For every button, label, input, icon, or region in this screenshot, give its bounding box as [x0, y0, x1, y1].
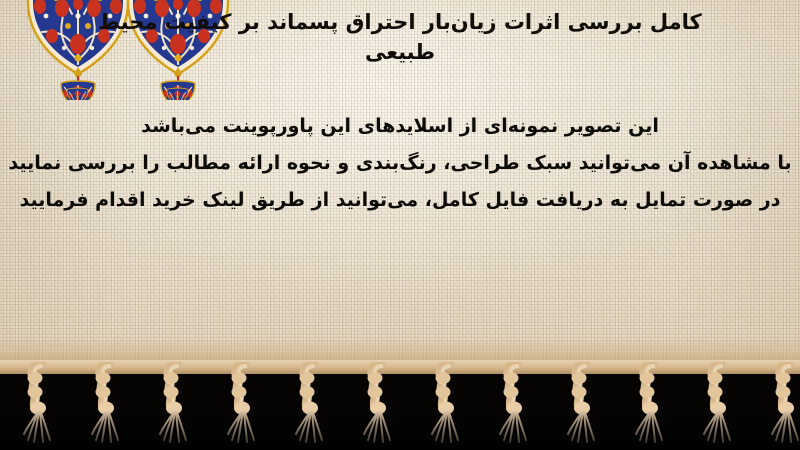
- fringe-tassel: [86, 362, 132, 450]
- fringe-tassel: [290, 362, 336, 450]
- slide-body-text: این تصویر نمونه‌ای از اسلایدهای این پاور…: [0, 108, 800, 220]
- fringe-tassel: [698, 362, 744, 450]
- fringe-tassel: [222, 362, 268, 450]
- fringe-tassel: [154, 362, 200, 450]
- fringe-tassel: [18, 362, 64, 450]
- slide-title-line-2: طبیعی: [0, 38, 800, 68]
- fringe-tassel: [358, 362, 404, 450]
- slide-body-line-3: در صورت تمایل به دریافت فایل کامل، می‌تو…: [0, 182, 800, 219]
- slide-body-line-2: با مشاهده آن می‌توانید سبک طراحی، رنگ‌بن…: [0, 145, 800, 182]
- slide-body-line-1: این تصویر نمونه‌ای از اسلایدهای این پاور…: [0, 108, 800, 145]
- fringe-tassel: [426, 362, 472, 450]
- slide-text-layer: کامل بررسی اثرات زیان‌بار احتراق پسماند …: [0, 0, 800, 368]
- fringe-tassel: [630, 362, 676, 450]
- presentation-slide: کامل بررسی اثرات زیان‌بار احتراق پسماند …: [0, 0, 800, 450]
- slide-title-line-1: کامل بررسی اثرات زیان‌بار احتراق پسماند …: [0, 8, 800, 38]
- fringe-tassel: [766, 362, 800, 450]
- fringe-tassel: [494, 362, 540, 450]
- fringe-tassel: [562, 362, 608, 450]
- carpet-fringe: [0, 360, 800, 450]
- slide-title: کامل بررسی اثرات زیان‌بار احتراق پسماند …: [0, 8, 800, 68]
